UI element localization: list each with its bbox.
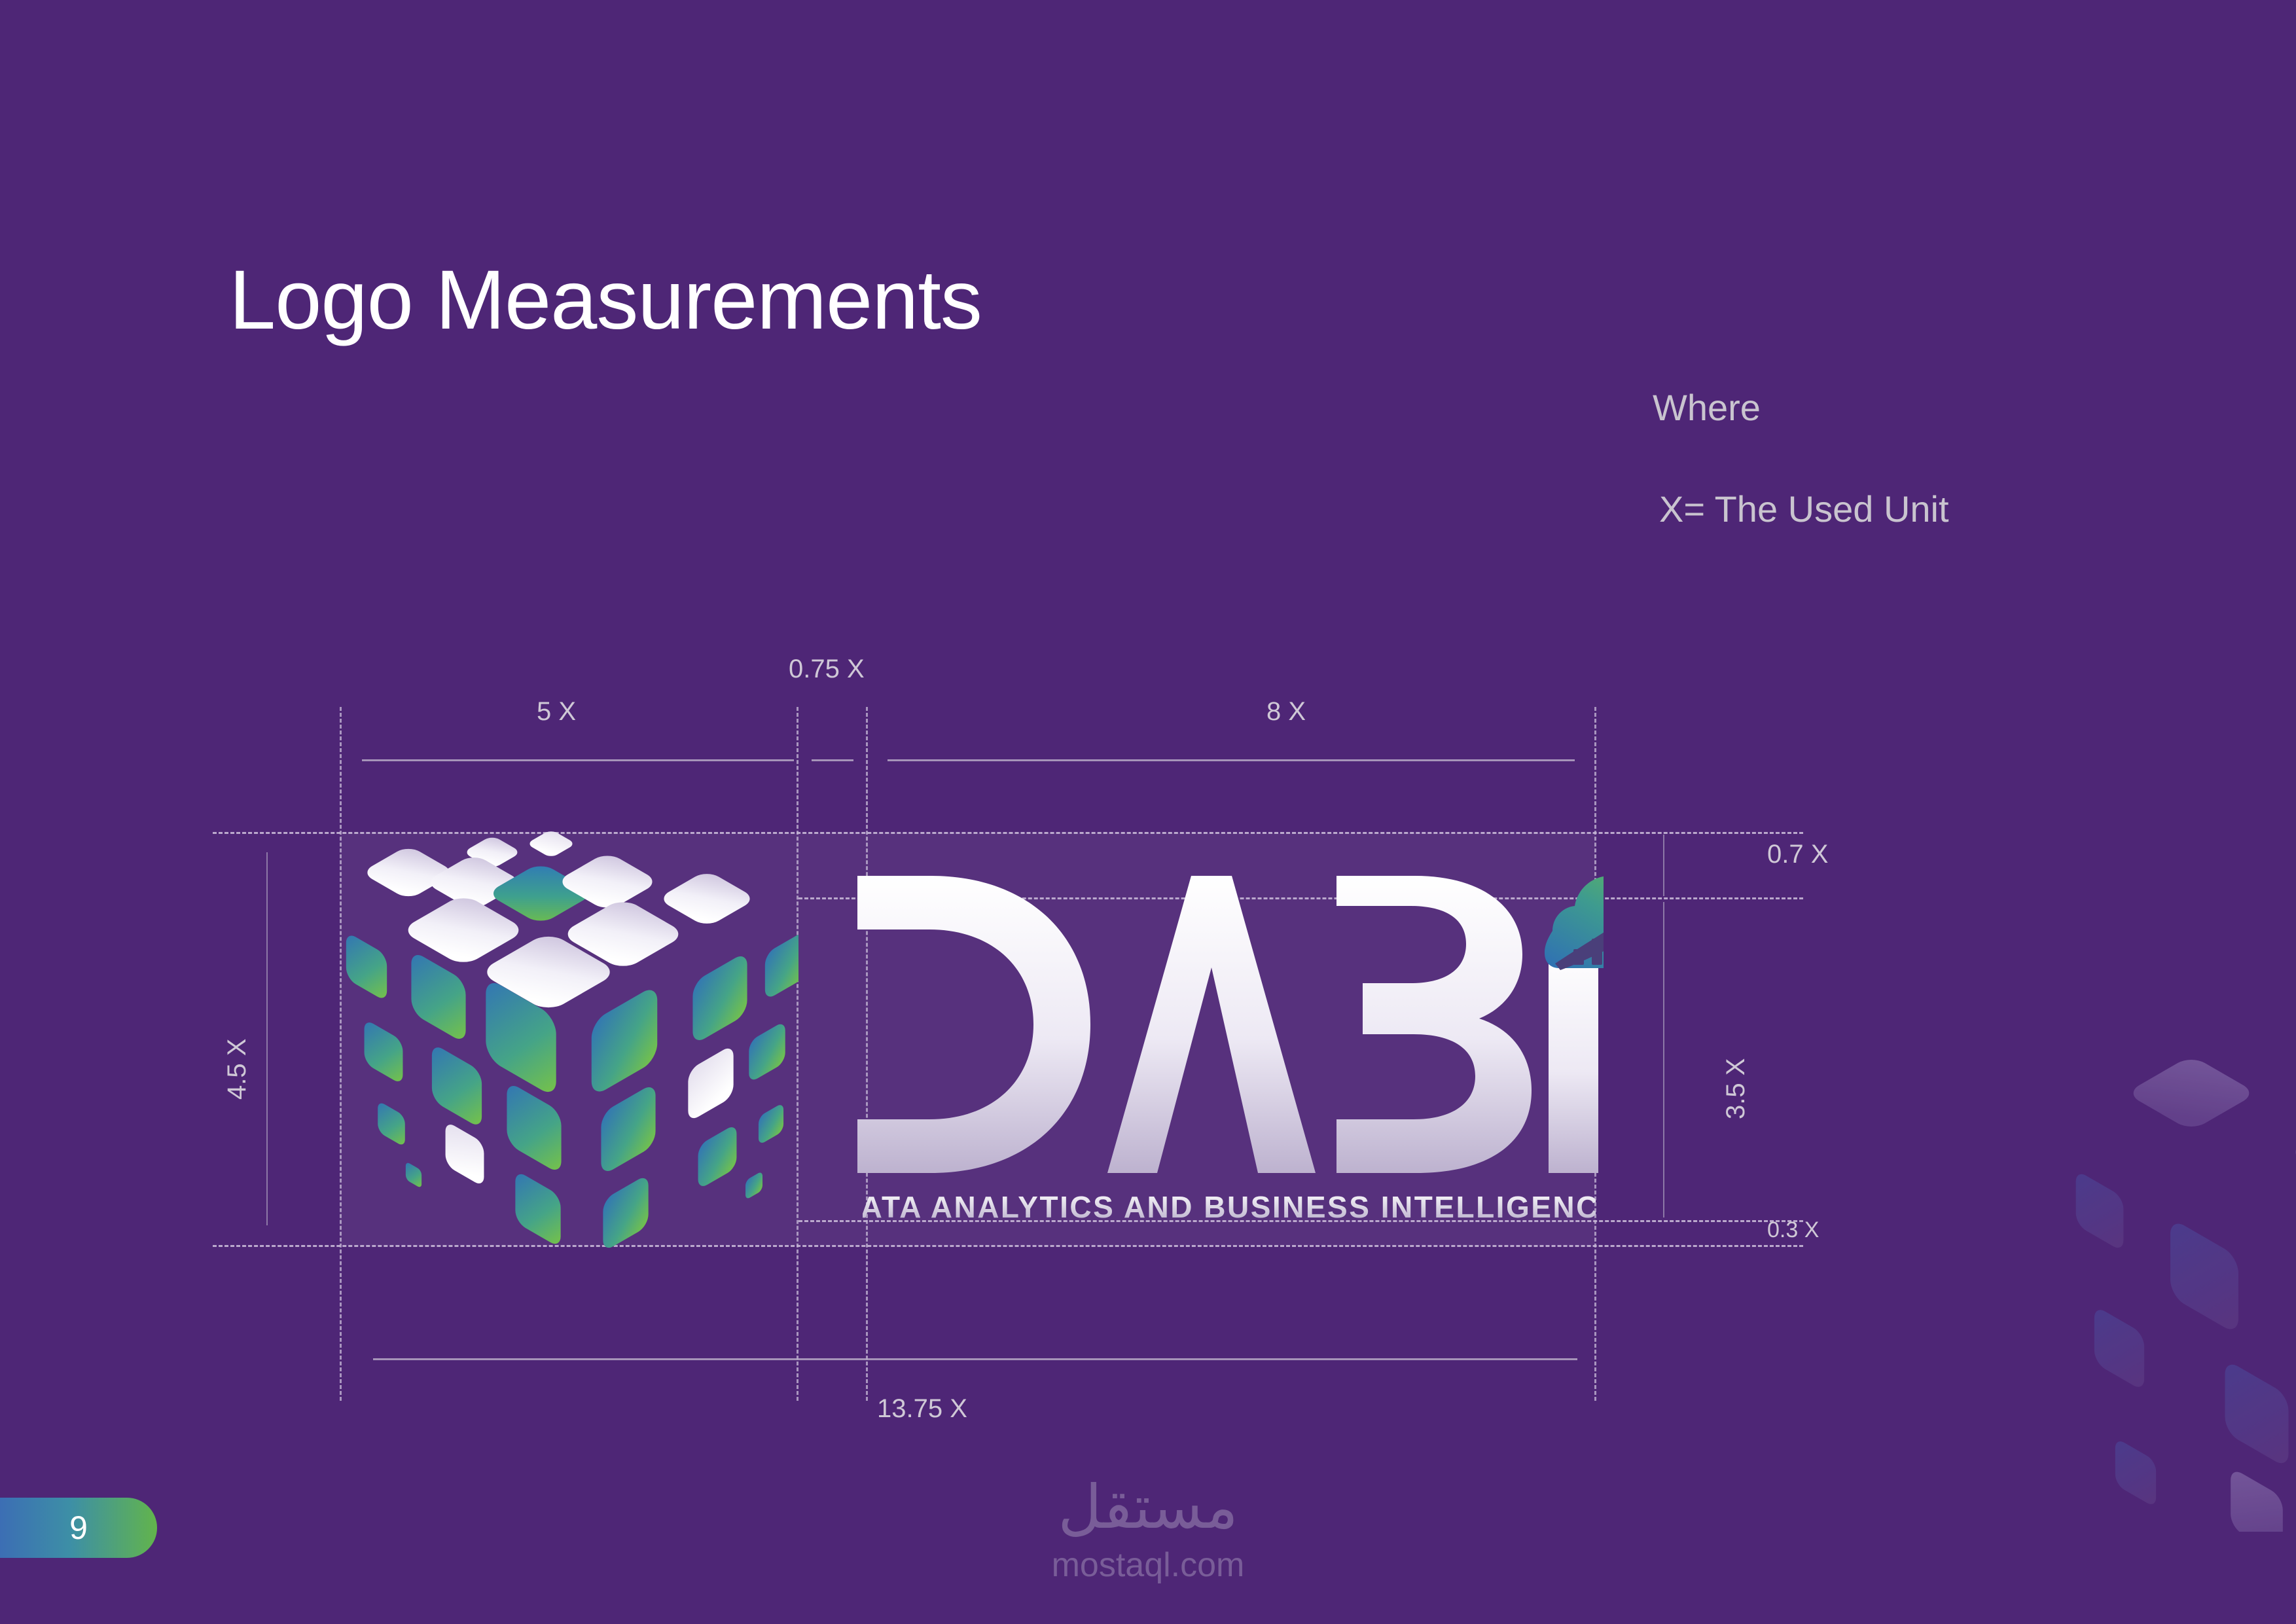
tagline-text: DATA ANALYTICS AND BUSINESS INTELLIGENCE xyxy=(863,1190,1596,1224)
unit-definition-label: X= The Used Unit xyxy=(1659,488,1949,530)
dimension-line-symbol-width xyxy=(362,759,794,761)
dimension-label-top-clearance: 0.7 X xyxy=(1767,840,1828,869)
dimension-label-wordmark-height: 3.5 X xyxy=(1721,1058,1751,1119)
mostaql-watermark: مستقل mostaql.com xyxy=(1004,1460,1292,1597)
page-number-text: 9 xyxy=(69,1511,88,1544)
wordmark-dabi xyxy=(851,871,1604,1178)
where-label: Where xyxy=(1653,386,1761,429)
watermark-arabic: مستقل xyxy=(1058,1472,1238,1542)
dimension-label-bottom-clearance: 0.3 X xyxy=(1767,1218,1819,1243)
watermark-domain: mostaql.com xyxy=(1052,1546,1245,1584)
dimension-line-top-clearance xyxy=(1663,835,1664,896)
dimension-line-gap-width xyxy=(812,759,853,761)
page-title: Logo Measurements xyxy=(229,259,982,342)
dimension-line-wordmark-height xyxy=(1663,902,1664,1218)
wordmark-tagline: DATA ANALYTICS AND BUSINESS INTELLIGENCE xyxy=(863,1188,1596,1227)
dimension-line-symbol-height xyxy=(266,852,268,1225)
page-number-badge: 9 xyxy=(0,1498,157,1558)
dimension-label-gap-width: 0.75 X xyxy=(789,655,865,684)
slide-canvas: Logo Measurements Where X= The Used Unit… xyxy=(0,0,2296,1624)
dimension-line-total-width xyxy=(373,1358,1577,1360)
dimension-label-symbol-height: 4.5 X xyxy=(223,1039,252,1100)
dimension-label-symbol-width: 5 X xyxy=(537,697,576,727)
isometric-data-cube-icon xyxy=(340,821,798,1267)
dimension-label-wordmark-width: 8 X xyxy=(1266,697,1306,727)
dimension-line-wordmark-width xyxy=(888,759,1575,761)
dimension-label-total-width: 13.75 X xyxy=(877,1394,967,1424)
decorative-cube-pattern xyxy=(1995,995,2296,1532)
